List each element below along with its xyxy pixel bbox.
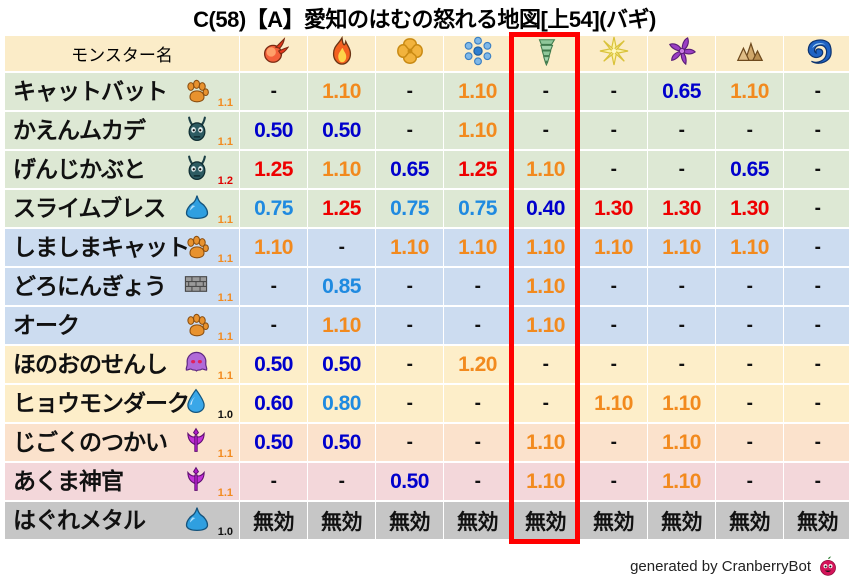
resistance-cell: 1.10: [716, 73, 783, 110]
trident-icon: [183, 466, 213, 496]
resistance-cell: 1.25: [240, 151, 307, 188]
resistance-cell: 1.10: [512, 229, 579, 266]
resistance-cell: 0.50: [240, 424, 307, 461]
resistance-cell: -: [784, 73, 849, 110]
resistance-cell: -: [240, 268, 307, 305]
resistance-cell: 0.80: [308, 385, 375, 422]
table-row: かえんムカデ1.10.500.50-1.10-----: [5, 112, 849, 149]
monster-name-cell: スライムブレス1.1: [5, 190, 239, 227]
monster-name-cell: オーク1.1: [5, 307, 239, 344]
resistance-cell: -: [784, 112, 849, 149]
drop-icon: [183, 388, 213, 418]
resistance-cell: -: [512, 385, 579, 422]
monster-name-cell: どろにんぎょう1.1: [5, 268, 239, 305]
resistance-cell: -: [308, 229, 375, 266]
column-header-tornado: [512, 36, 579, 71]
column-header-mountain: [716, 36, 783, 71]
table-row: キャットバット1.1-1.10-1.10--0.651.10-: [5, 73, 849, 110]
resistance-cell: -: [580, 268, 647, 305]
resistance-cell: 1.10: [444, 73, 511, 110]
paw-icon: [183, 310, 213, 340]
resistance-cell: 1.10: [648, 385, 715, 422]
table-row: げんじかぶと1.21.251.100.651.251.10--0.65-: [5, 151, 849, 188]
column-header-flame: [308, 36, 375, 71]
resistance-cell: -: [648, 151, 715, 188]
resistance-cell: 0.50: [308, 424, 375, 461]
resistance-cell: -: [716, 268, 783, 305]
resistance-cell: -: [240, 307, 307, 344]
monster-level-badge: 1.1: [218, 98, 233, 109]
resistance-cell: 無効: [376, 502, 443, 539]
resistance-cell: -: [240, 73, 307, 110]
resistance-cell: -: [784, 151, 849, 188]
column-header-snowflake: [444, 36, 511, 71]
column-header-monster-name: モンスター名: [5, 36, 239, 71]
resistance-cell: -: [716, 463, 783, 500]
resistance-cell: 無効: [784, 502, 849, 539]
resistance-cell: -: [512, 112, 579, 149]
table-row: しましまキャット1.11.10-1.101.101.101.101.101.10…: [5, 229, 849, 266]
resistance-cell: -: [376, 307, 443, 344]
page-title: C(58)【A】愛知のはむの怒れる地図[上54](バギ): [0, 2, 849, 34]
resistance-cell: -: [308, 463, 375, 500]
resistance-cell: 0.65: [716, 151, 783, 188]
resistance-cell: 1.10: [512, 307, 579, 344]
cranberry-bot-icon: [817, 555, 839, 577]
resistance-cell: -: [444, 268, 511, 305]
monster-level-badge: 1.1: [218, 488, 233, 499]
sparkle-star-icon: [599, 36, 629, 71]
resistance-cell: -: [716, 385, 783, 422]
resistance-cell: -: [716, 307, 783, 344]
table-row: ヒョウモンダーク1.00.600.80---1.101.10--: [5, 385, 849, 422]
resistance-cell: -: [444, 463, 511, 500]
monster-name-label: どろにんぎょう: [13, 268, 166, 305]
resistance-cell: -: [580, 112, 647, 149]
resistance-cell: -: [784, 385, 849, 422]
resistance-cell: -: [376, 346, 443, 383]
resistance-cell: -: [784, 190, 849, 227]
column-header-purple-pinwheel: [648, 36, 715, 71]
trident-icon: [183, 427, 213, 457]
resistance-cell: 1.10: [580, 385, 647, 422]
wave-icon: [803, 36, 833, 71]
table-body: キャットバット1.1-1.10-1.10--0.651.10-かえんムカデ1.1…: [5, 73, 849, 539]
table-row: ほのおのせんし1.10.500.50-1.20-----: [5, 346, 849, 383]
monster-name-cell: ヒョウモンダーク1.0: [5, 385, 239, 422]
resistance-cell: 1.10: [308, 151, 375, 188]
mountain-icon: [735, 36, 765, 71]
resistance-cell: 0.75: [444, 190, 511, 227]
resistance-table: モンスター名 キャットバット1.1-1.10-1.10--0.651.10-かえ…: [4, 34, 849, 541]
resistance-cell: 0.65: [648, 73, 715, 110]
monster-level-badge: 1.1: [218, 449, 233, 460]
resistance-cell: 0.65: [376, 151, 443, 188]
resistance-cell: 1.10: [376, 229, 443, 266]
resistance-cell: -: [580, 424, 647, 461]
resistance-cell: 1.25: [308, 190, 375, 227]
resistance-cell: -: [716, 346, 783, 383]
resistance-cell: -: [648, 112, 715, 149]
resistance-cell: -: [648, 307, 715, 344]
monster-level-badge: 1.1: [218, 293, 233, 304]
resistance-cell: -: [784, 424, 849, 461]
resistance-cell: -: [784, 463, 849, 500]
resistance-cell: 1.10: [444, 112, 511, 149]
resistance-cell: 0.60: [240, 385, 307, 422]
resistance-cell: -: [444, 385, 511, 422]
resistance-cell: 0.50: [240, 112, 307, 149]
column-header-ice-crystal: [376, 36, 443, 71]
resistance-cell: 1.10: [580, 229, 647, 266]
resistance-cell: 無効: [580, 502, 647, 539]
meragiga-fire-ball-icon: [259, 36, 289, 71]
table-row: あくま神官1.1--0.50-1.10-1.10--: [5, 463, 849, 500]
resistance-table-page: C(58)【A】愛知のはむの怒れる地図[上54](バギ) モンスター名 キャット…: [0, 0, 849, 583]
resistance-cell: 0.50: [308, 346, 375, 383]
resistance-cell: -: [376, 424, 443, 461]
resistance-cell: 1.10: [512, 424, 579, 461]
resistance-cell: 1.10: [648, 424, 715, 461]
resistance-cell: 1.10: [716, 229, 783, 266]
resistance-cell: -: [376, 268, 443, 305]
footer-text: generated by CranberryBot: [630, 558, 811, 575]
ice-crystal-icon: [395, 36, 425, 71]
resistance-cell: 0.85: [308, 268, 375, 305]
resistance-cell: 1.10: [512, 463, 579, 500]
column-header-fire-ball: [240, 36, 307, 71]
resistance-cell: -: [648, 346, 715, 383]
flame-icon: [327, 36, 357, 71]
resistance-cell: -: [716, 112, 783, 149]
monster-name-cell: かえんムカデ1.1: [5, 112, 239, 149]
resistance-cell: 1.10: [512, 151, 579, 188]
monster-name-label: キャットバット: [13, 73, 167, 110]
bug-icon: [183, 154, 213, 184]
resistance-cell: -: [240, 463, 307, 500]
resistance-cell: -: [376, 385, 443, 422]
resistance-cell: -: [580, 151, 647, 188]
column-header-sparkle-star: [580, 36, 647, 71]
resistance-cell: 1.10: [308, 307, 375, 344]
monster-level-badge: 1.1: [218, 137, 233, 148]
monster-level-badge: 1.1: [218, 371, 233, 382]
resistance-cell: -: [716, 424, 783, 461]
monster-level-badge: 1.1: [218, 254, 233, 265]
resistance-cell: 1.10: [648, 229, 715, 266]
resistance-cell: 0.50: [308, 112, 375, 149]
resistance-cell: 0.75: [376, 190, 443, 227]
monster-name-cell: じごくのつかい1.1: [5, 424, 239, 461]
resistance-cell: 無効: [308, 502, 375, 539]
monster-name-cell: はぐれメタル1.0: [5, 502, 239, 539]
monster-name-label: ほのおのせんし: [13, 346, 167, 383]
monster-name-cell: キャットバット1.1: [5, 73, 239, 110]
resistance-cell: -: [580, 346, 647, 383]
resistance-cell: 無効: [240, 502, 307, 539]
resistance-cell: -: [512, 73, 579, 110]
resistance-cell: 1.20: [444, 346, 511, 383]
resistance-cell: 1.30: [580, 190, 647, 227]
monster-level-badge: 1.1: [218, 215, 233, 226]
resistance-cell: 0.50: [376, 463, 443, 500]
monster-level-badge: 1.2: [218, 176, 233, 187]
resistance-cell: 1.10: [308, 73, 375, 110]
resistance-cell: -: [784, 346, 849, 383]
monster-name-label: スライムブレス: [13, 190, 165, 227]
monster-name-label: かえんムカデ: [13, 112, 145, 149]
monster-level-badge: 1.1: [218, 332, 233, 343]
resistance-cell: -: [444, 307, 511, 344]
brick-icon: [183, 271, 213, 301]
monster-name-cell: ほのおのせんし1.1: [5, 346, 239, 383]
resistance-cell: 1.30: [716, 190, 783, 227]
resistance-cell: -: [784, 307, 849, 344]
resistance-cell: 1.25: [444, 151, 511, 188]
monster-name-cell: あくま神官1.1: [5, 463, 239, 500]
resistance-cell: -: [648, 268, 715, 305]
resistance-cell: 1.10: [444, 229, 511, 266]
table-row: オーク1.1-1.10--1.10----: [5, 307, 849, 344]
column-header-wave: [784, 36, 849, 71]
monster-name-cell: しましまキャット1.1: [5, 229, 239, 266]
resistance-cell: 0.40: [512, 190, 579, 227]
resistance-cell: 無効: [444, 502, 511, 539]
table-row: どろにんぎょう1.1-0.85--1.10----: [5, 268, 849, 305]
resistance-cell: -: [784, 268, 849, 305]
bug-icon: [183, 115, 213, 145]
monster-name-label: じごくのつかい: [13, 424, 167, 461]
purple-pinwheel-icon: [667, 36, 697, 71]
monster-name-label: しましまキャット: [13, 229, 189, 266]
monster-name-label: あくま神官: [13, 463, 123, 500]
monster-name-cell: げんじかぶと1.2: [5, 151, 239, 188]
slime-icon: [183, 505, 213, 535]
resistance-cell: 0.50: [240, 346, 307, 383]
monster-name-label: ヒョウモンダーク: [13, 385, 189, 422]
resistance-cell: -: [376, 73, 443, 110]
resistance-cell: -: [580, 307, 647, 344]
resistance-cell: 1.30: [648, 190, 715, 227]
ghost-icon: [183, 349, 213, 379]
resistance-cell: 無効: [716, 502, 783, 539]
footer-credit: generated by CranberryBot: [630, 555, 839, 577]
resistance-cell: 無効: [512, 502, 579, 539]
monster-name-label: げんじかぶと: [13, 151, 145, 188]
resistance-cell: 無効: [648, 502, 715, 539]
tornado-icon: [531, 36, 561, 71]
resistance-cell: -: [512, 346, 579, 383]
slime-icon: [183, 193, 213, 223]
table-header-row: モンスター名: [5, 36, 849, 71]
resistance-cell: 0.75: [240, 190, 307, 227]
paw-icon: [183, 232, 213, 262]
resistance-cell: 1.10: [240, 229, 307, 266]
monster-level-badge: 1.0: [218, 410, 233, 421]
monster-name-label: オーク: [13, 307, 79, 344]
snowflake-icon: [463, 36, 493, 71]
resistance-cell: -: [580, 73, 647, 110]
monster-name-label: はぐれメタル: [13, 502, 145, 539]
table-row: はぐれメタル1.0無効無効無効無効無効無効無効無効無効: [5, 502, 849, 539]
resistance-cell: 1.10: [512, 268, 579, 305]
resistance-cell: -: [580, 463, 647, 500]
table-row: じごくのつかい1.10.500.50--1.10-1.10--: [5, 424, 849, 461]
paw-icon: [183, 76, 213, 106]
resistance-cell: -: [784, 229, 849, 266]
resistance-cell: 1.10: [648, 463, 715, 500]
resistance-cell: -: [376, 112, 443, 149]
table-row: スライムブレス1.10.751.250.750.750.401.301.301.…: [5, 190, 849, 227]
resistance-cell: -: [444, 424, 511, 461]
monster-level-badge: 1.0: [218, 527, 233, 538]
